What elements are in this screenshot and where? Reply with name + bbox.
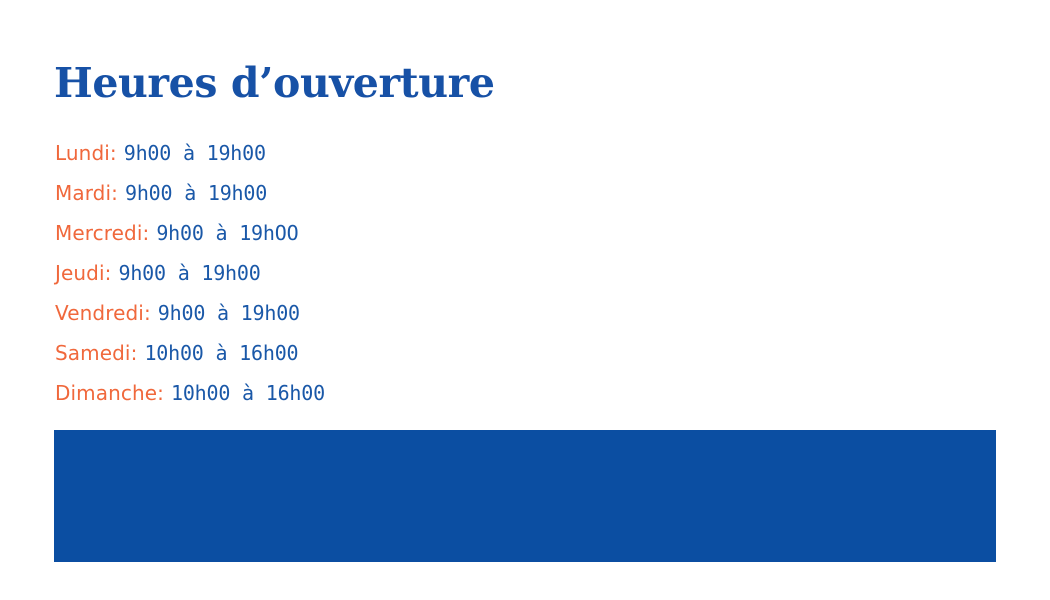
day-label: Samedi: (55, 341, 137, 365)
list-item: Jeudi: 9h00 à 19h00 (55, 253, 325, 293)
day-hours-value: 10h00 à 16h00 (144, 341, 298, 365)
accent-bar (54, 430, 996, 562)
list-item: Mercredi: 9h00 à 19hOO (55, 213, 325, 253)
opening-hours-list: Lundi: 9h00 à 19h00 Mardi: 9h00 à 19h00 … (55, 133, 325, 413)
day-label: Dimanche: (55, 381, 164, 405)
day-hours-value: 9h00 à 19h00 (118, 261, 260, 285)
day-hours-value: 10h00 à 16h00 (171, 381, 325, 405)
day-label: Mercredi: (55, 221, 149, 245)
day-hours-value: 9h00 à 19h00 (158, 301, 300, 325)
day-label: Mardi: (55, 181, 118, 205)
day-label: Jeudi: (55, 261, 111, 285)
day-hours-value: 9h00 à 19h00 (124, 141, 266, 165)
list-item: Samedi: 10h00 à 16h00 (55, 333, 325, 373)
list-item: Dimanche: 10h00 à 16h00 (55, 373, 325, 413)
day-label: Lundi: (55, 141, 117, 165)
day-hours-value: 9h00 à 19hOO (156, 221, 298, 245)
list-item: Lundi: 9h00 à 19h00 (55, 133, 325, 173)
list-item: Mardi: 9h00 à 19h00 (55, 173, 325, 213)
day-hours-value: 9h00 à 19h00 (125, 181, 267, 205)
page-title: Heures d’ouverture (54, 59, 495, 107)
opening-hours-slide: Heures d’ouverture Lundi: 9h00 à 19h00 M… (0, 0, 1050, 600)
list-item: Vendredi: 9h00 à 19h00 (55, 293, 325, 333)
day-label: Vendredi: (55, 301, 151, 325)
